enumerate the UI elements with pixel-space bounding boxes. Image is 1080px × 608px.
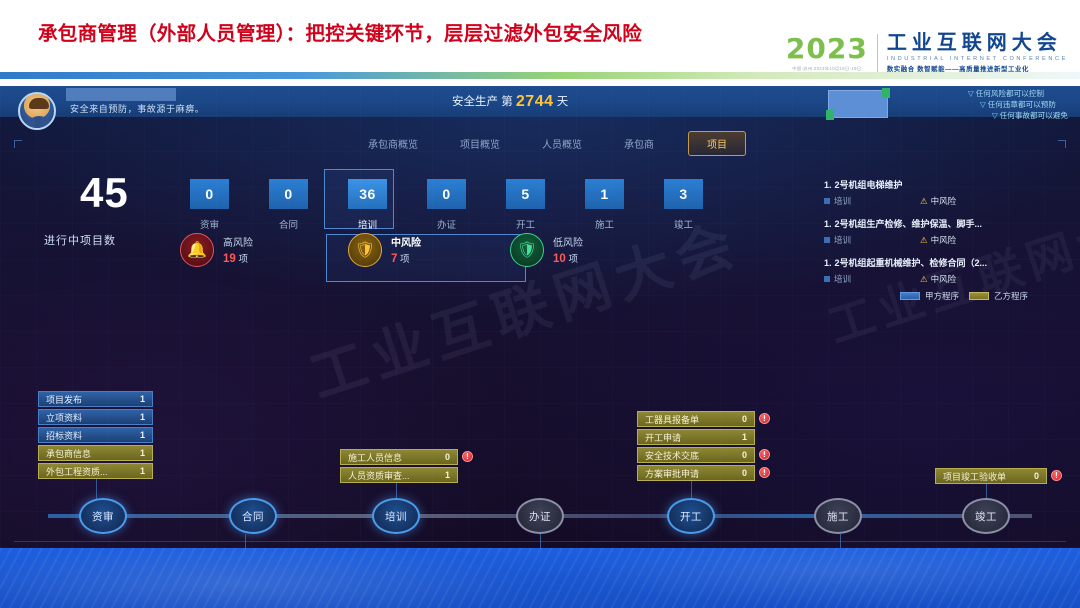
warning-icon: ⚠ [920,235,928,245]
flow-box-outsourcing-qualification[interactable]: 外包工程资质... 1 [38,463,153,479]
list-item-meta: 培训 ⚠中风险 [824,195,1074,207]
alert-slogans: ▽任何风险都可以控制 ▽任何违章都可以预防 ▽任何事故都可以避免 [968,88,1068,121]
flow-box-label: 安全技术交底 [645,449,699,462]
flow-box-tool-registration[interactable]: 工器具报备单 0 [637,411,755,427]
shield-check-icon: 🛡 [510,233,544,267]
flow-box-count: 1 [140,394,145,404]
warning-icon: ⚠ [920,196,928,206]
risk-medium[interactable]: 🛡 中风险 7 项 [326,233,498,267]
project-alert-list: 1.2号机组电梯维护 培训 ⚠中风险 1.2号机组生产检修、维护保温、脚手...… [824,178,1074,295]
check-icon: ▽ [980,100,986,109]
alarm-bell-icon: 🔔 [180,233,214,267]
tab-personnel-overview[interactable]: 人员概览 [534,132,590,155]
risk-count: 19 项 [223,251,253,265]
timeline-node-zhenshen[interactable]: 资审 [79,498,127,534]
kpi-value: 5 [506,179,545,209]
flow-box-start-work-application[interactable]: 开工申请 1 [637,429,755,445]
kpi-jungong[interactable]: 3 竣工 [664,179,703,231]
active-project-label: 进行中项目数 [44,232,116,248]
list-item-stage: 培训 [824,234,920,246]
flow-box-label: 人员资质审查... [348,469,410,482]
kpi-banzheng[interactable]: 0 办证 [427,179,466,231]
kpi-value: 0 [269,179,308,209]
flow-box-count: 1 [140,412,145,422]
tab-contractor[interactable]: 承包商 [616,132,662,155]
list-item-risk: ⚠中风险 [920,273,956,285]
stage-marker-icon [824,237,830,243]
nav-tabs: 承包商概览 项目概览 人员概览 承包商 项目 [360,131,746,156]
kpi-hetong[interactable]: 0 合同 [269,179,308,231]
slide-page: 承包商管理（外部人员管理）：把控关键环节，层层过滤外包安全风险 2023 中国·… [0,0,1080,608]
timeline-node-banzheng[interactable]: 办证 [516,498,564,534]
list-item-title: 1.2号机组电梯维护 [824,178,1074,191]
kpi-value: 1 [585,179,624,209]
avatar-tie [35,117,40,129]
flow-box-initiation-docs[interactable]: 立项资料 1 [38,409,153,425]
flow-box-label: 施工人员信息 [348,451,402,464]
flow-box-count: 0 [742,450,747,460]
legend-label: 乙方程序 [994,290,1028,302]
flow-box-project-completion-acceptance[interactable]: 项目竣工验收单 0 [935,468,1047,484]
check-icon: ▽ [992,111,998,120]
page-title: 承包商管理（外部人员管理）：把控关键环节，层层过滤外包安全风险 [38,17,642,46]
kpi-value: 0 [427,179,466,209]
risk-label: 中风险 [391,236,421,251]
check-icon: ▽ [968,89,974,98]
flow-box-label: 立项资料 [46,411,82,424]
list-item[interactable]: 1.2号机组起重机械维护、检修合同（2... 培训 ⚠中风险 [824,256,1074,285]
flow-box-label: 工器具报备单 [645,413,699,426]
kpi-value: 36 [348,179,387,209]
kpi-value: 0 [190,179,229,209]
list-item-meta: 培训 ⚠中风险 [824,273,1074,285]
flow-box-count: 0 [1034,471,1039,481]
logo-year-block: 2023 中国·苏州 2023年10月18日-19日 [786,35,877,72]
header-divider-bar [0,72,1080,79]
safety-days-label: 安全生产 第 [452,96,513,108]
list-item-title: 1.2号机组生产检修、维护保温、脚手... [824,217,1074,230]
slide-header: 承包商管理（外部人员管理）：把控关键环节，层层过滤外包安全风险 2023 中国·… [0,0,1080,88]
stage-marker-icon [824,276,830,282]
alert-badge-icon[interactable]: ! [1051,470,1062,481]
safety-days-unit: 天 [557,96,569,108]
process-flow-area: 甲方程序 乙方程序 项目发布 1 立项资料 1 招标资料 1 承 [0,286,1080,548]
flow-box-count: 0 [742,414,747,424]
process-timeline: 资审 合同 培训 办证 开工 施工 竣工 [48,498,1032,500]
list-item-stage: 培训 [824,273,920,285]
list-item[interactable]: 1.2号机组电梯维护 培训 ⚠中风险 [824,178,1074,207]
kpi-shigong[interactable]: 1 施工 [585,179,624,231]
safety-days-value: 2744 [516,93,554,110]
warning-icon: ⚠ [920,274,928,284]
alert-badge-icon[interactable]: ! [462,451,473,462]
legend-swatch-icon [969,292,989,300]
flow-box-label: 招标资料 [46,429,82,442]
list-item-stage: 培训 [824,195,920,207]
flow-box-worker-info[interactable]: 施工人员信息 0 [340,449,458,465]
legend-swatch-icon [900,292,920,300]
risk-count: 10 项 [553,251,583,265]
timeline-node-hetong[interactable]: 合同 [229,498,277,534]
kpi-row: 0 资审 0 合同 36 培训 0 办证 5 开工 1 施工 [190,179,703,231]
legend-label: 甲方程序 [925,290,959,302]
panel-corner-top-right [1058,140,1066,148]
kpi-label: 施工 [585,217,624,231]
flow-box-count: 1 [140,430,145,440]
conference-logo: 2023 中国·苏州 2023年10月18日-19日 工业互联网大会 INDUS… [786,30,1068,76]
logo-year: 2023 [786,35,868,63]
alert-badge-icon[interactable]: ! [759,449,770,460]
timeline-node-peixun[interactable]: 培训 [372,498,420,534]
alert-slogan-2: ▽任何违章都可以预防 [968,99,1068,110]
kpi-label: 竣工 [664,217,703,231]
kpi-label: 培训 [348,217,387,231]
tab-contractor-overview[interactable]: 承包商概览 [360,132,426,155]
panel-bottom-edge [14,541,1066,542]
flow-box-label: 承包商信息 [46,447,91,460]
flow-box-label: 项目竣工验收单 [943,470,1006,483]
alert-slogan-1: ▽任何风险都可以控制 [968,88,1068,99]
flow-box-label: 方案审批申请 [645,467,699,480]
logo-title-cn: 工业互联网大会 [887,33,1068,54]
kpi-label: 开工 [506,217,545,231]
kpi-peixun[interactable]: 36 培训 [348,179,387,231]
flow-box-label: 外包工程资质... [46,465,108,478]
logo-text-block: 工业互联网大会 INDUSTRIAL INTERNET CONFERENCE 数… [878,33,1068,73]
marquee-highlight [66,88,176,101]
flow-box-count: 1 [140,448,145,458]
flow-box-count: 1 [140,466,145,476]
dashboard-canvas: 工业互联网大会 工业互联网大会 安全来自预防，事故源于麻痹。 安全生产 第 27… [0,86,1080,548]
slide-footer [0,548,1080,608]
list-item[interactable]: 1.2号机组生产检修、维护保温、脚手... 培训 ⚠中风险 [824,217,1074,246]
alert-slogan-3: ▽任何事故都可以避免 [968,110,1068,121]
flow-box-count: 0 [445,452,450,462]
legend-item-party-b: 乙方程序 [969,290,1028,302]
flow-box-personnel-qualification-review[interactable]: 人员资质审查... 1 [340,467,458,483]
risk-low[interactable]: 🛡 低风险 10 项 [498,233,648,267]
list-item-title: 1.2号机组起重机械维护、检修合同（2... [824,256,1074,269]
timeline-node-kaigong[interactable]: 开工 [667,498,715,534]
avatar-hair [29,98,49,109]
video-thumbnail[interactable] [828,90,888,118]
active-project-count: 45 [80,169,129,217]
risk-count: 7 项 [391,251,421,265]
kpi-zhenshen[interactable]: 0 资审 [190,179,229,231]
flow-box-count: 0 [742,468,747,478]
shield-warning-icon: 🛡 [348,233,382,267]
flow-box-label: 开工申请 [645,431,681,444]
logo-title-en: INDUSTRIAL INTERNET CONFERENCE [887,56,1068,62]
list-item-meta: 培训 ⚠中风险 [824,234,1074,246]
legend-item-party-a: 甲方程序 [900,290,959,302]
safety-days-counter: 安全生产 第 2744 天 [452,93,568,111]
timeline-node-shigong[interactable]: 施工 [814,498,862,534]
list-item-risk: ⚠中风险 [920,234,956,246]
flow-box-bidding-docs[interactable]: 招标资料 1 [38,427,153,443]
risk-label: 高风险 [223,236,253,251]
tab-project[interactable]: 项目 [688,131,746,156]
kpi-label: 合同 [269,217,308,231]
safety-slogan: 安全来自预防，事故源于麻痹。 [70,102,204,115]
kpi-kaigong[interactable]: 5 开工 [506,179,545,231]
flow-box-count: 1 [742,432,747,442]
flow-box-project-release[interactable]: 项目发布 1 [38,391,153,407]
timeline-node-jungong[interactable]: 竣工 [962,498,1010,534]
risk-row: 🔔 高风险 19 项 🛡 中风险 7 项 🛡 低风险 10 项 [180,233,648,267]
flow-box-contractor-info[interactable]: 承包商信息 1 [38,445,153,461]
list-item-risk: ⚠中风险 [920,195,956,207]
flow-box-safety-briefing[interactable]: 安全技术交底 0 [637,447,755,463]
stage-marker-icon [824,198,830,204]
flow-box-count: 1 [445,470,450,480]
kpi-label: 资审 [190,217,229,231]
alert-badge-icon[interactable]: ! [759,467,770,478]
panel-corner-top-left [14,140,22,148]
risk-label: 低风险 [553,236,583,251]
flow-box-label: 项目发布 [46,393,82,406]
flow-legend: 甲方程序 乙方程序 [900,290,1028,302]
tab-project-overview[interactable]: 项目概览 [452,132,508,155]
flow-box-plan-approval-application[interactable]: 方案审批申请 0 [637,465,755,481]
kpi-label: 办证 [427,217,466,231]
alert-badge-icon[interactable]: ! [759,413,770,424]
avatar [18,92,56,130]
logo-year-subtitle: 中国·苏州 2023年10月18日-19日 [792,66,861,72]
kpi-value: 3 [664,179,703,209]
risk-high[interactable]: 🔔 高风险 19 项 [180,233,326,267]
